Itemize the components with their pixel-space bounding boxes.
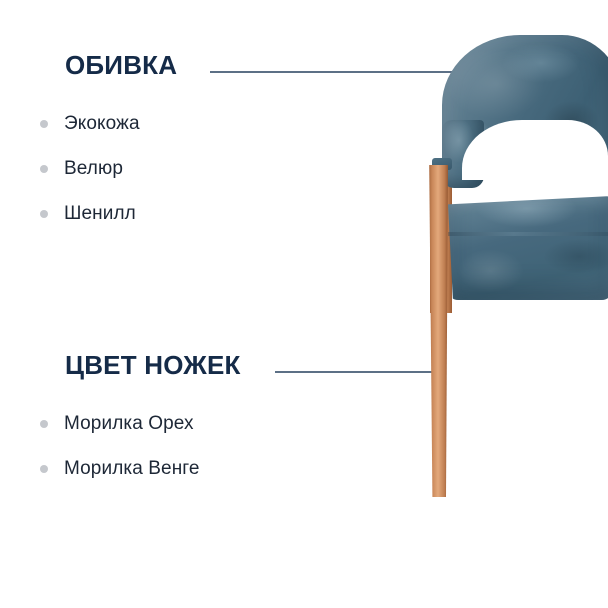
option-label: Морилка Орех [64, 413, 194, 435]
chair-front-leg [428, 165, 448, 497]
list-item[interactable]: Экокожа [0, 101, 300, 146]
option-label: Экокожа [64, 113, 140, 135]
list-item[interactable]: Морилка Орех [0, 401, 300, 446]
option-label: Морилка Венге [64, 458, 200, 480]
bullet-dot-icon [40, 210, 48, 218]
chair-seat-seam [448, 232, 608, 236]
bullet-dot-icon [40, 420, 48, 428]
product-options-infographic: ОБИВКА Экокожа Велюр Шенилл ЦВЕТ НОЖЕК М… [0, 0, 608, 608]
option-label: Шенилл [64, 203, 136, 225]
section-leg-color: ЦВЕТ НОЖЕК Морилка Орех Морилка Венге [0, 352, 300, 491]
option-label: Велюр [64, 158, 123, 180]
option-list-leg-color: Морилка Орех Морилка Венге [0, 401, 300, 491]
bullet-dot-icon [40, 465, 48, 473]
section-heading-leg-color: ЦВЕТ НОЖЕК [0, 352, 300, 379]
bullet-dot-icon [40, 120, 48, 128]
list-item[interactable]: Шенилл [0, 191, 300, 236]
chair-seat [448, 196, 608, 300]
option-list-upholstery: Экокожа Велюр Шенилл [0, 101, 300, 236]
list-item[interactable]: Велюр [0, 146, 300, 191]
section-heading-upholstery: ОБИВКА [0, 52, 300, 79]
section-upholstery: ОБИВКА Экокожа Велюр Шенилл [0, 52, 300, 236]
bullet-dot-icon [40, 165, 48, 173]
chair-photo [404, 0, 608, 608]
list-item[interactable]: Морилка Венге [0, 446, 300, 491]
